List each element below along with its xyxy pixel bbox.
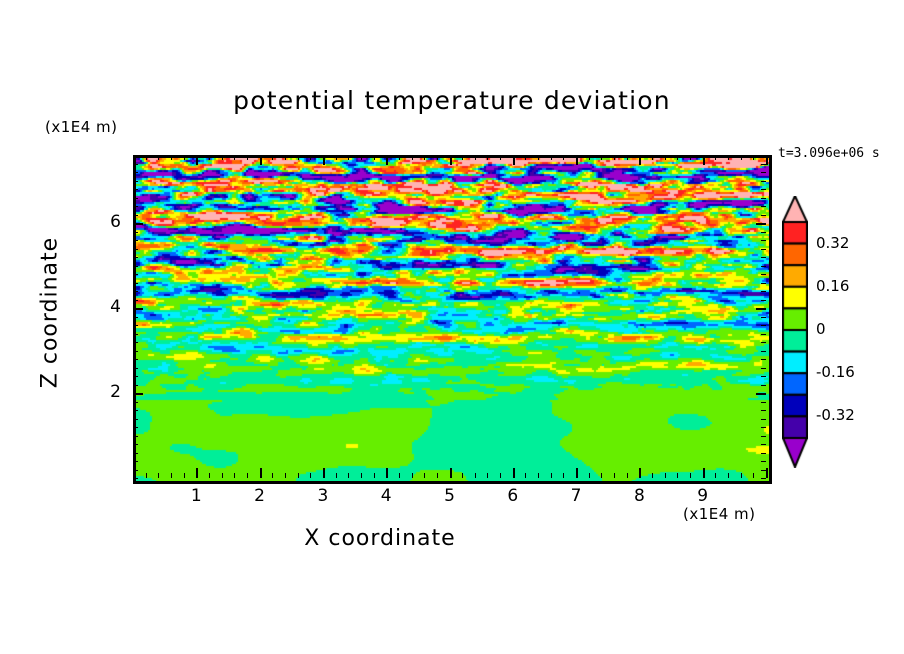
tick-mark bbox=[756, 223, 766, 225]
tick-mark bbox=[133, 419, 138, 420]
tick-mark bbox=[247, 155, 248, 160]
tick-mark bbox=[133, 376, 138, 377]
timestamp-annotation: t=3.096e+06 s bbox=[778, 146, 880, 161]
x-tick-label: 9 bbox=[688, 486, 718, 506]
tick-mark bbox=[133, 461, 138, 462]
tick-mark bbox=[133, 334, 138, 335]
tick-mark bbox=[133, 427, 138, 428]
tick-mark bbox=[756, 308, 766, 310]
tick-mark bbox=[500, 155, 501, 160]
tick-mark bbox=[310, 473, 311, 478]
tick-mark bbox=[399, 155, 400, 160]
tick-mark bbox=[450, 468, 452, 478]
tick-mark bbox=[386, 155, 388, 165]
tick-mark bbox=[728, 155, 729, 160]
tick-mark bbox=[761, 368, 766, 369]
tick-mark bbox=[761, 189, 766, 190]
tick-mark bbox=[563, 473, 564, 478]
x-tick-label: 5 bbox=[435, 486, 465, 506]
tick-mark bbox=[133, 223, 143, 225]
tick-mark bbox=[260, 468, 262, 478]
tick-mark bbox=[761, 215, 766, 216]
contour-field bbox=[136, 158, 769, 481]
colorbar-tick-label: -0.16 bbox=[816, 363, 855, 381]
tick-mark bbox=[336, 473, 337, 478]
tick-mark bbox=[475, 155, 476, 160]
tick-mark bbox=[761, 444, 766, 445]
x-tick-label: 7 bbox=[561, 486, 591, 506]
tick-mark bbox=[563, 155, 564, 160]
y-axis-title: Z coordinate bbox=[38, 203, 63, 423]
tick-mark bbox=[500, 473, 501, 478]
tick-mark bbox=[652, 155, 653, 160]
contour-plot-area bbox=[133, 155, 772, 484]
tick-mark bbox=[761, 410, 766, 411]
tick-mark bbox=[728, 473, 729, 478]
tick-mark bbox=[761, 257, 766, 258]
tick-mark bbox=[437, 473, 438, 478]
tick-mark bbox=[766, 155, 768, 165]
colorbar bbox=[782, 196, 808, 468]
tick-mark bbox=[133, 266, 138, 267]
tick-mark bbox=[761, 385, 766, 386]
tick-mark bbox=[487, 473, 488, 478]
colorbar-tick-label: 0 bbox=[816, 320, 826, 338]
tick-mark bbox=[196, 155, 198, 165]
tick-mark bbox=[761, 317, 766, 318]
tick-mark bbox=[133, 206, 138, 207]
tick-mark bbox=[133, 453, 138, 454]
tick-mark bbox=[133, 300, 138, 301]
tick-mark bbox=[285, 155, 286, 160]
tick-mark bbox=[525, 155, 526, 160]
tick-mark bbox=[761, 436, 766, 437]
tick-mark bbox=[133, 155, 138, 156]
x-axis-title: X coordinate bbox=[0, 526, 760, 551]
colorbar-tick-label: 0.32 bbox=[816, 234, 849, 252]
tick-mark bbox=[756, 393, 766, 395]
tick-mark bbox=[766, 468, 768, 478]
tick-mark bbox=[133, 308, 143, 310]
x-tick-label: 6 bbox=[498, 486, 528, 506]
tick-mark bbox=[133, 478, 138, 479]
tick-mark bbox=[133, 181, 138, 182]
y-axis-unit-label: (x1E4 m) bbox=[45, 118, 118, 136]
tick-mark bbox=[209, 155, 210, 160]
tick-mark bbox=[715, 473, 716, 478]
tick-mark bbox=[399, 473, 400, 478]
tick-mark bbox=[551, 473, 552, 478]
tick-mark bbox=[761, 453, 766, 454]
tick-mark bbox=[158, 473, 159, 478]
tick-mark bbox=[761, 376, 766, 377]
tick-mark bbox=[146, 155, 147, 160]
tick-mark bbox=[171, 155, 172, 160]
tick-mark bbox=[761, 351, 766, 352]
tick-mark bbox=[753, 155, 754, 160]
tick-mark bbox=[133, 325, 138, 326]
tick-mark bbox=[601, 155, 602, 160]
tick-mark bbox=[761, 478, 766, 479]
tick-mark bbox=[652, 473, 653, 478]
tick-mark bbox=[703, 468, 705, 478]
tick-mark bbox=[715, 155, 716, 160]
tick-mark bbox=[513, 155, 515, 165]
tick-mark bbox=[133, 342, 138, 343]
tick-mark bbox=[761, 470, 766, 471]
tick-mark bbox=[234, 473, 235, 478]
x-tick-label: 1 bbox=[181, 486, 211, 506]
tick-mark bbox=[133, 436, 138, 437]
tick-mark bbox=[298, 155, 299, 160]
tick-mark bbox=[614, 155, 615, 160]
tick-mark bbox=[133, 317, 138, 318]
tick-mark bbox=[551, 155, 552, 160]
tick-mark bbox=[703, 155, 705, 165]
tick-mark bbox=[323, 155, 325, 165]
tick-mark bbox=[310, 155, 311, 160]
tick-mark bbox=[209, 473, 210, 478]
tick-mark bbox=[761, 232, 766, 233]
tick-mark bbox=[627, 155, 628, 160]
tick-mark bbox=[424, 155, 425, 160]
tick-mark bbox=[462, 473, 463, 478]
tick-mark bbox=[761, 291, 766, 292]
tick-mark bbox=[761, 461, 766, 462]
tick-mark bbox=[761, 181, 766, 182]
tick-mark bbox=[272, 155, 273, 160]
tick-mark bbox=[386, 468, 388, 478]
y-tick-label: 4 bbox=[91, 297, 121, 317]
tick-mark bbox=[761, 359, 766, 360]
tick-mark bbox=[285, 473, 286, 478]
tick-mark bbox=[158, 155, 159, 160]
tick-mark bbox=[298, 473, 299, 478]
tick-mark bbox=[462, 155, 463, 160]
tick-mark bbox=[761, 198, 766, 199]
tick-mark bbox=[601, 473, 602, 478]
tick-mark bbox=[614, 473, 615, 478]
tick-mark bbox=[475, 473, 476, 478]
tick-mark bbox=[513, 468, 515, 478]
tick-mark bbox=[133, 470, 138, 471]
x-tick-label: 3 bbox=[308, 486, 338, 506]
figure-canvas: potential temperature deviation (x1E4 m)… bbox=[0, 0, 904, 654]
tick-mark bbox=[146, 473, 147, 478]
tick-mark bbox=[761, 240, 766, 241]
tick-mark bbox=[336, 155, 337, 160]
tick-mark bbox=[133, 291, 138, 292]
tick-mark bbox=[627, 473, 628, 478]
chart-title: potential temperature deviation bbox=[0, 86, 904, 115]
tick-mark bbox=[133, 232, 138, 233]
tick-mark bbox=[222, 155, 223, 160]
tick-mark bbox=[690, 473, 691, 478]
tick-mark bbox=[589, 155, 590, 160]
tick-mark bbox=[133, 410, 138, 411]
tick-mark bbox=[639, 155, 641, 165]
tick-mark bbox=[761, 155, 766, 156]
tick-mark bbox=[133, 351, 138, 352]
tick-mark bbox=[133, 215, 138, 216]
tick-mark bbox=[761, 206, 766, 207]
tick-mark bbox=[761, 325, 766, 326]
tick-mark bbox=[761, 274, 766, 275]
tick-mark bbox=[222, 473, 223, 478]
tick-mark bbox=[247, 473, 248, 478]
tick-mark bbox=[741, 473, 742, 478]
tick-mark bbox=[133, 385, 138, 386]
tick-mark bbox=[761, 266, 766, 267]
tick-mark bbox=[133, 257, 138, 258]
tick-mark bbox=[487, 155, 488, 160]
tick-mark bbox=[133, 444, 138, 445]
colorbar-tick-label: -0.32 bbox=[816, 406, 855, 424]
tick-mark bbox=[361, 473, 362, 478]
tick-mark bbox=[690, 155, 691, 160]
tick-mark bbox=[348, 473, 349, 478]
tick-mark bbox=[361, 155, 362, 160]
tick-mark bbox=[761, 283, 766, 284]
y-tick-label: 6 bbox=[91, 212, 121, 232]
tick-mark bbox=[589, 473, 590, 478]
tick-mark bbox=[677, 155, 678, 160]
tick-mark bbox=[412, 473, 413, 478]
tick-mark bbox=[133, 368, 138, 369]
tick-mark bbox=[171, 473, 172, 478]
tick-mark bbox=[133, 172, 138, 173]
tick-mark bbox=[761, 402, 766, 403]
tick-mark bbox=[450, 155, 452, 165]
tick-mark bbox=[234, 155, 235, 160]
tick-mark bbox=[272, 473, 273, 478]
tick-mark bbox=[761, 249, 766, 250]
tick-mark bbox=[665, 473, 666, 478]
tick-mark bbox=[677, 473, 678, 478]
tick-mark bbox=[133, 274, 138, 275]
tick-mark bbox=[424, 473, 425, 478]
tick-mark bbox=[437, 155, 438, 160]
tick-mark bbox=[412, 155, 413, 160]
tick-mark bbox=[761, 300, 766, 301]
tick-mark bbox=[260, 155, 262, 165]
tick-mark bbox=[196, 468, 198, 478]
tick-mark bbox=[133, 249, 138, 250]
tick-mark bbox=[576, 468, 578, 478]
tick-mark bbox=[323, 468, 325, 478]
tick-mark bbox=[761, 427, 766, 428]
tick-mark bbox=[525, 473, 526, 478]
tick-mark bbox=[538, 155, 539, 160]
tick-mark bbox=[761, 342, 766, 343]
colorbar-gradient bbox=[782, 196, 808, 468]
tick-mark bbox=[133, 198, 138, 199]
tick-mark bbox=[184, 473, 185, 478]
tick-mark bbox=[665, 155, 666, 160]
tick-mark bbox=[133, 393, 143, 395]
tick-mark bbox=[753, 473, 754, 478]
tick-mark bbox=[348, 155, 349, 160]
tick-mark bbox=[576, 155, 578, 165]
y-tick-label: 2 bbox=[91, 382, 121, 402]
tick-mark bbox=[538, 473, 539, 478]
tick-mark bbox=[184, 155, 185, 160]
tick-mark bbox=[761, 172, 766, 173]
tick-mark bbox=[133, 402, 138, 403]
colorbar-tick-label: 0.16 bbox=[816, 277, 849, 295]
x-tick-label: 8 bbox=[624, 486, 654, 506]
tick-mark bbox=[133, 240, 138, 241]
tick-mark bbox=[639, 468, 641, 478]
tick-mark bbox=[761, 164, 766, 165]
tick-mark bbox=[741, 155, 742, 160]
x-tick-label: 4 bbox=[371, 486, 401, 506]
tick-mark bbox=[133, 283, 138, 284]
tick-mark bbox=[133, 359, 138, 360]
tick-mark bbox=[374, 473, 375, 478]
tick-mark bbox=[133, 164, 138, 165]
tick-mark bbox=[761, 419, 766, 420]
x-axis-unit-label: (x1E4 m) bbox=[683, 505, 756, 523]
x-tick-label: 2 bbox=[245, 486, 275, 506]
tick-mark bbox=[761, 334, 766, 335]
tick-mark bbox=[374, 155, 375, 160]
tick-mark bbox=[133, 189, 138, 190]
